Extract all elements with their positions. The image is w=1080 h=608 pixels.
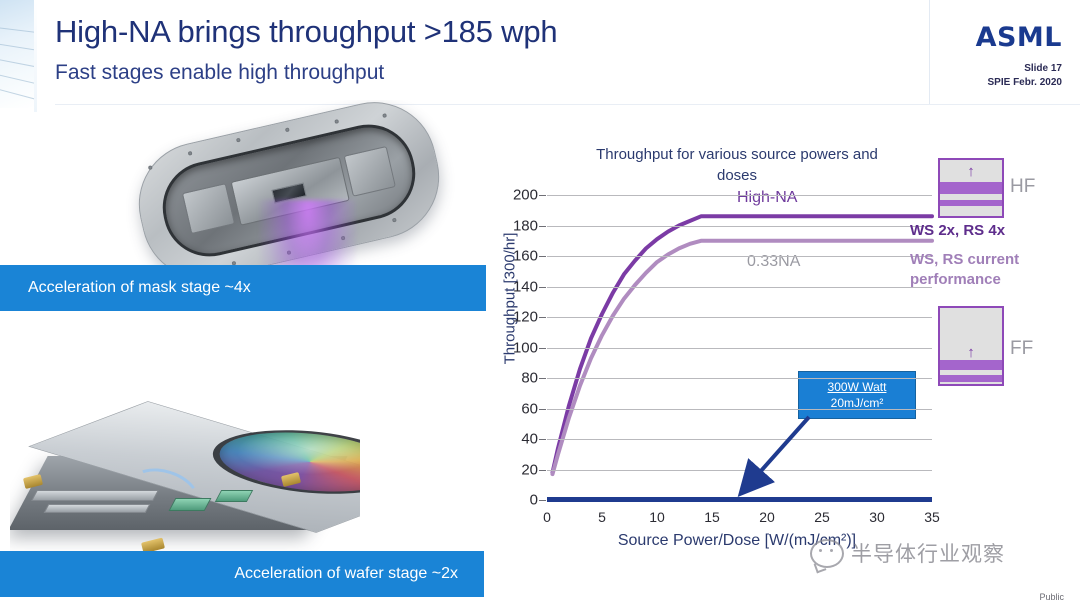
chart-y-tick-label: 100 (513, 339, 538, 356)
chart-y-tick-label: 0 (530, 492, 538, 509)
chart-y-tick-label: 180 (513, 217, 538, 234)
chart-y-tick-mark (539, 378, 546, 379)
chart-x-tick-label: 15 (704, 509, 720, 525)
chart-x-tick-label: 30 (869, 509, 885, 525)
chart-y-tick-mark (539, 317, 546, 318)
chart-x-tick-label: 0 (543, 509, 551, 525)
hf-icon: ↑ (938, 158, 1004, 218)
chart-plot-area: High-NA 0.33NA 300W Watt 20mJ/cm² 020406… (547, 195, 932, 500)
chart-y-tick-mark (539, 470, 546, 471)
chart-y-tick-mark (539, 287, 546, 288)
chart-y-tick-label: 140 (513, 278, 538, 295)
chart-title: Throughput for various source powers and… (592, 144, 882, 186)
chart-x-tick-label: 35 (924, 509, 940, 525)
page-subtitle: Fast stages enable high throughput (55, 61, 384, 85)
chart-y-tick-mark (539, 500, 546, 501)
slide-number: Slide 17 (988, 62, 1063, 76)
chart-x-tick-label: 20 (759, 509, 775, 525)
watermark-text: 半导体行业观察 (851, 538, 1005, 568)
callout-arrow (547, 195, 932, 500)
chart-y-tick-label: 80 (521, 370, 538, 387)
watermark: 半导体行业观察 (810, 538, 1005, 568)
chart-y-tick-label: 160 (513, 248, 538, 265)
wechat-icon (810, 539, 844, 568)
footer-label: Public (1039, 592, 1064, 602)
chart-y-tick-label: 60 (521, 400, 538, 417)
chart-y-tick-mark (539, 226, 546, 227)
legend-line-2: WS, RS current performance (910, 250, 1078, 290)
hf-label: HF (1010, 176, 1035, 198)
chart-y-tick-label: 200 (513, 187, 538, 204)
chart-x-tick-label: 10 (649, 509, 665, 525)
chart-x-tick-label: 5 (598, 509, 606, 525)
chart-y-tick-mark (539, 439, 546, 440)
ff-label: FF (1010, 338, 1033, 360)
chart-y-tick-mark (539, 256, 546, 257)
chart-y-tick-label: 120 (513, 309, 538, 326)
page-title: High-NA brings throughput >185 wph (55, 14, 557, 50)
mask-stage-photo (110, 100, 470, 285)
mask-stage-caption: Acceleration of mask stage ~4x (0, 265, 486, 311)
slide: High-NA brings throughput >185 wph Fast … (0, 0, 1080, 608)
decorative-sky-graphic (0, 0, 34, 108)
decorative-edge (34, 0, 37, 112)
wafer-stage-caption: Acceleration of wafer stage ~2x (0, 551, 484, 597)
chart-y-tick-label: 20 (521, 461, 538, 478)
asml-logo: ASML (976, 22, 1062, 53)
event-label: SPIE Febr. 2020 (988, 76, 1063, 90)
header-vertical-rule (929, 0, 930, 104)
legend-line-1: WS 2x, RS 4x (910, 222, 1078, 239)
chart-x-tick-label: 25 (814, 509, 830, 525)
chart-y-tick-mark (539, 195, 546, 196)
chart-y-tick-label: 40 (521, 431, 538, 448)
chart-y-tick-mark (539, 348, 546, 349)
chart-y-tick-mark (539, 409, 546, 410)
ff-icon: ↑ (938, 306, 1004, 386)
throughput-chart: Throughput for various source powers and… (482, 140, 952, 560)
slide-info: Slide 17 SPIE Febr. 2020 (988, 62, 1063, 90)
